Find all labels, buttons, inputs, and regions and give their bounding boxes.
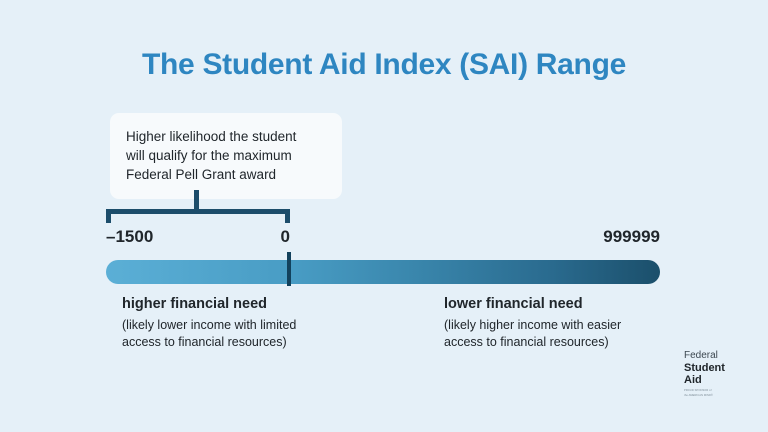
bracket-arm-right: [285, 209, 290, 223]
logo-line-student: Student: [684, 362, 746, 375]
logo-line-federal: Federal: [684, 350, 746, 362]
logo-tagline-line2: the AMERICAN MIND®: [684, 394, 746, 397]
caption-lower-need-subtext: (likely higher income with easier access…: [444, 317, 744, 351]
sai-range-infographic: The Student Aid Index (SAI) Range Higher…: [0, 0, 768, 432]
scale-label-maximum: 999999: [560, 227, 660, 247]
bracket-arm-left: [106, 209, 111, 223]
callout-text: Higher likelihood the student will quali…: [126, 127, 326, 184]
logo-tagline-line1: PROUD SPONSOR of: [684, 389, 746, 392]
caption-lower-need-heading: lower financial need: [444, 296, 744, 312]
caption-higher-need-subtext: (likely lower income with limited access…: [122, 317, 422, 351]
scale-label-minimum: –1500: [106, 227, 153, 247]
sai-gradient-bar: [106, 260, 660, 284]
caption-higher-need: higher financial need (likely lower inco…: [122, 296, 422, 351]
page-title: The Student Aid Index (SAI) Range: [0, 48, 768, 82]
zero-tick-marker: [287, 252, 291, 286]
federal-student-aid-logo: Federal Student Aid PROUD SPONSOR of the…: [684, 350, 746, 397]
caption-higher-need-heading: higher financial need: [122, 296, 422, 312]
caption-lower-need: lower financial need (likely higher inco…: [444, 296, 744, 351]
logo-line-aid: Aid: [684, 374, 746, 387]
bracket-top-bar: [106, 209, 290, 214]
pell-grant-callout-box: Higher likelihood the student will quali…: [110, 113, 342, 199]
scale-label-zero: 0: [250, 227, 290, 247]
